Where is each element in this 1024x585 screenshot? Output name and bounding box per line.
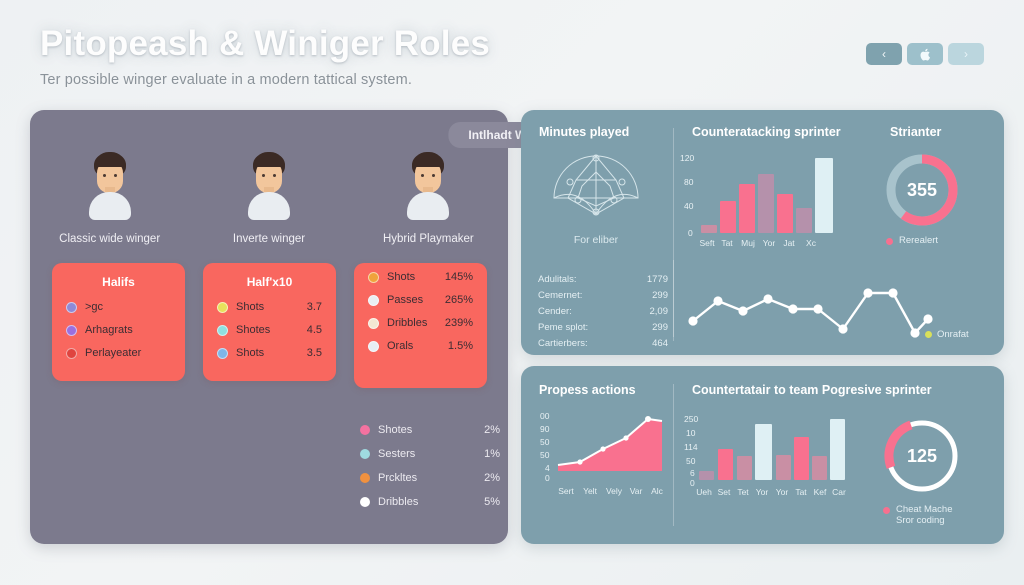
- heading-counterattacking-sprinter: Counteratacking sprinter: [692, 125, 841, 139]
- bullet-dot: [66, 302, 77, 313]
- bullet-dot: [217, 325, 228, 336]
- apple-button[interactable]: [907, 43, 943, 65]
- x-tick: Yelt: [577, 486, 603, 496]
- metric-row: Shotes 4.5: [217, 324, 322, 336]
- x-tick: Xc: [800, 238, 822, 248]
- bar: [830, 419, 845, 480]
- metric-name: Shots: [236, 347, 307, 359]
- legend-label: Dribbles: [378, 496, 484, 508]
- y-tick: 50: [540, 450, 549, 460]
- bar: [815, 158, 833, 233]
- profile-label: Inverte winger: [233, 233, 305, 245]
- metric-row: Dribbles 239%: [368, 317, 473, 329]
- metric-card-row: Halifs >gc Arhagrats Perlayeater Half'x1…: [52, 263, 487, 388]
- legend-item: Dribbles 5%: [360, 496, 500, 508]
- avatar: [242, 152, 296, 220]
- bar: [796, 208, 812, 233]
- x-tick: Seft: [696, 238, 718, 248]
- page-subtitle: Ter possible winger evaluate in a modern…: [40, 72, 660, 88]
- y-tick: 250: [684, 414, 698, 424]
- stat-row: Cemernet: 299: [538, 290, 688, 301]
- metric-row: Shots 3.5: [217, 347, 322, 359]
- x-tick: Tat: [716, 238, 738, 248]
- legend-label: Sesters: [378, 448, 484, 460]
- metric-value: 1.5%: [448, 340, 473, 352]
- profile-card-2[interactable]: Hybrid Playmaker: [349, 152, 508, 245]
- legend-label-line1: Cheat Mache: [896, 504, 953, 515]
- metric-row: Passes 265%: [368, 294, 473, 306]
- bar: [758, 174, 774, 233]
- stat-key: Cemernet:: [538, 290, 624, 301]
- donut-center-value-wrap: 125: [884, 418, 960, 494]
- legend-dot: [360, 473, 370, 483]
- profile-card-1[interactable]: Inverte winger: [189, 152, 348, 245]
- metric-name: Dribbles: [387, 317, 445, 329]
- legend-label: Prckltes: [378, 472, 484, 484]
- y-tick: 90: [540, 424, 549, 434]
- y-tick: 6: [690, 468, 695, 478]
- prev-button[interactable]: ‹: [866, 43, 902, 65]
- legend-dot: [360, 497, 370, 507]
- x-tick: Jat: [778, 238, 800, 248]
- heading-minutes-played: Minutes played: [539, 125, 629, 139]
- stat-row: Adulitals: 1779: [538, 274, 688, 285]
- heading-progress-actions: Propess actions: [539, 383, 636, 397]
- bullet-dot: [368, 341, 379, 352]
- y-tick: 120: [680, 153, 694, 163]
- legend-dot: [360, 425, 370, 435]
- stat-value: 2,09: [624, 306, 668, 317]
- x-tick: Yor: [758, 238, 780, 248]
- left-legend: Shotes 2% Sesters 1% Prckltes 2% Dribble…: [360, 424, 500, 520]
- card-title: Half'x10: [217, 275, 322, 289]
- metric-name: Passes: [387, 294, 445, 306]
- y-tick: 80: [684, 177, 693, 187]
- metric-row: Shots 145%: [368, 271, 473, 283]
- bullet-dot: [368, 295, 379, 306]
- bullet-dot: [217, 348, 228, 359]
- bar-chart-progressive-sprinter: [697, 418, 845, 480]
- stat-row: Cender: 2,09: [538, 306, 688, 317]
- donut-center-value-wrap: 355: [884, 152, 960, 228]
- metric-name: Arhagrats: [85, 324, 171, 336]
- legend-label: Shotes: [378, 424, 484, 436]
- legend-dot: [360, 449, 370, 459]
- heading-strianter: Strianter: [890, 125, 941, 139]
- stat-key: Cender:: [538, 306, 624, 317]
- nav-button-group: ‹ ›: [866, 43, 984, 65]
- x-tick: Car: [827, 487, 851, 497]
- legend-item: Sesters 1%: [360, 448, 500, 460]
- metric-value: 239%: [445, 317, 473, 329]
- y-tick: 114: [684, 442, 698, 452]
- legend-value: 2%: [484, 424, 500, 436]
- chevron-left-icon: ‹: [882, 47, 886, 61]
- stat-row: Peme splot: 299: [538, 322, 688, 333]
- bar: [718, 449, 733, 480]
- metric-card-0[interactable]: Halifs >gc Arhagrats Perlayeater: [52, 263, 185, 381]
- metric-value: 4.5: [307, 324, 322, 336]
- metric-name: >gc: [85, 301, 171, 313]
- metric-card-2[interactable]: Shots 145% Passes 265% Dribbles 239% Ora…: [354, 263, 487, 388]
- metric-value: 265%: [445, 294, 473, 306]
- bullet-dot: [368, 272, 379, 283]
- page-header: Pitopeash & Winiger Roles Ter possible w…: [40, 26, 660, 88]
- y-tick: 00: [540, 411, 549, 421]
- bar: [755, 424, 772, 480]
- legend-value: 5%: [484, 496, 500, 508]
- x-tick: Muj: [736, 238, 760, 248]
- legend-label: Rerealert: [899, 235, 938, 246]
- page-title: Pitopeash & Winiger Roles: [40, 26, 660, 63]
- bar: [777, 194, 793, 233]
- metric-row: Perlayeater: [66, 347, 171, 359]
- stat-list: Adulitals: 1779 Cemernet: 299 Cender: 2,…: [538, 274, 688, 354]
- avatar: [401, 152, 455, 220]
- next-button[interactable]: ›: [948, 43, 984, 65]
- bar: [720, 201, 736, 233]
- metric-name: Perlayeater: [85, 347, 171, 359]
- y-tick: 10: [686, 428, 695, 438]
- apple-icon: [920, 48, 931, 61]
- metric-value: 145%: [445, 271, 473, 283]
- stat-row: Cartierbers: 464: [538, 338, 688, 349]
- bar: [812, 456, 827, 480]
- bar: [776, 455, 791, 480]
- chevron-right-icon: ›: [964, 47, 968, 61]
- stat-value: 464: [624, 338, 668, 349]
- line-chart-trend: [683, 283, 933, 345]
- y-tick: 0: [545, 473, 550, 483]
- stat-value: 1779: [624, 274, 668, 285]
- metric-card-1[interactable]: Half'x10 Shots 3.7 Shotes 4.5 Shots 3.5: [203, 263, 336, 381]
- x-tick: Alc: [645, 486, 669, 496]
- metric-name: Orals: [387, 340, 448, 352]
- bar: [794, 437, 809, 480]
- stat-key: Adulitals:: [538, 274, 624, 285]
- bar: [699, 471, 714, 480]
- bullet-dot: [66, 325, 77, 336]
- legend-label-line2: Sror coding: [896, 515, 945, 526]
- donut-legend: Cheat Mache Sror coding: [883, 504, 953, 526]
- legend-value: 1%: [484, 448, 500, 460]
- donut-legend: Rerealert: [886, 235, 938, 246]
- y-tick: 0: [688, 228, 693, 238]
- metric-row: >gc: [66, 301, 171, 313]
- stat-key: Cartierbers:: [538, 338, 624, 349]
- metric-value: 3.5: [307, 347, 322, 359]
- y-tick: 4: [545, 463, 550, 473]
- line-chart-legend: Onrafat: [925, 329, 969, 340]
- y-tick: 40: [684, 201, 693, 211]
- profile-label: Classic wide winger: [59, 233, 160, 245]
- legend-value: 2%: [484, 472, 500, 484]
- radar-chart: [548, 152, 644, 230]
- legend-label: Onrafat: [937, 329, 969, 340]
- legend-label-wrap: Cheat Mache Sror coding: [896, 504, 953, 526]
- metric-name: Shotes: [236, 324, 307, 336]
- metric-row: Arhagrats: [66, 324, 171, 336]
- bullet-dot: [66, 348, 77, 359]
- bar-chart-counterattacking: [697, 155, 837, 233]
- bar: [739, 184, 755, 233]
- bar: [701, 225, 717, 233]
- x-tick: Sert: [553, 486, 579, 496]
- metric-name: Shots: [387, 271, 445, 283]
- stat-key: Peme splot:: [538, 322, 624, 333]
- legend-dot: [883, 507, 890, 514]
- radar-caption: For eliber: [548, 234, 644, 246]
- donut-center-value: 125: [907, 446, 937, 467]
- metric-name: Shots: [236, 301, 307, 313]
- dashboard-root: Pitopeash & Winiger Roles Ter possible w…: [0, 0, 1024, 585]
- heading-counter-team-progressive: Countertatair to team Pogresive sprinter: [692, 383, 932, 397]
- bullet-dot: [217, 302, 228, 313]
- legend-item: Prckltes 2%: [360, 472, 500, 484]
- avatar: [83, 152, 137, 220]
- y-tick: 50: [686, 456, 695, 466]
- stat-value: 299: [624, 322, 668, 333]
- metric-row: Orals 1.5%: [368, 340, 473, 352]
- legend-item: Shotes 2%: [360, 424, 500, 436]
- profile-row: Classic wide winger Inverte winger Hybri…: [30, 152, 508, 245]
- profile-label: Hybrid Playmaker: [383, 233, 474, 245]
- area-chart-progress: [556, 413, 664, 476]
- stat-value: 299: [624, 290, 668, 301]
- y-tick: 50: [540, 437, 549, 447]
- legend-dot: [925, 331, 932, 338]
- bullet-dot: [368, 318, 379, 329]
- card-title: Halifs: [66, 275, 171, 289]
- donut-center-value: 355: [907, 180, 937, 201]
- bar: [737, 456, 752, 480]
- metric-value: 3.7: [307, 301, 322, 313]
- metric-row: Shots 3.7: [217, 301, 322, 313]
- legend-dot: [886, 238, 893, 245]
- profile-card-0[interactable]: Classic wide winger: [30, 152, 189, 245]
